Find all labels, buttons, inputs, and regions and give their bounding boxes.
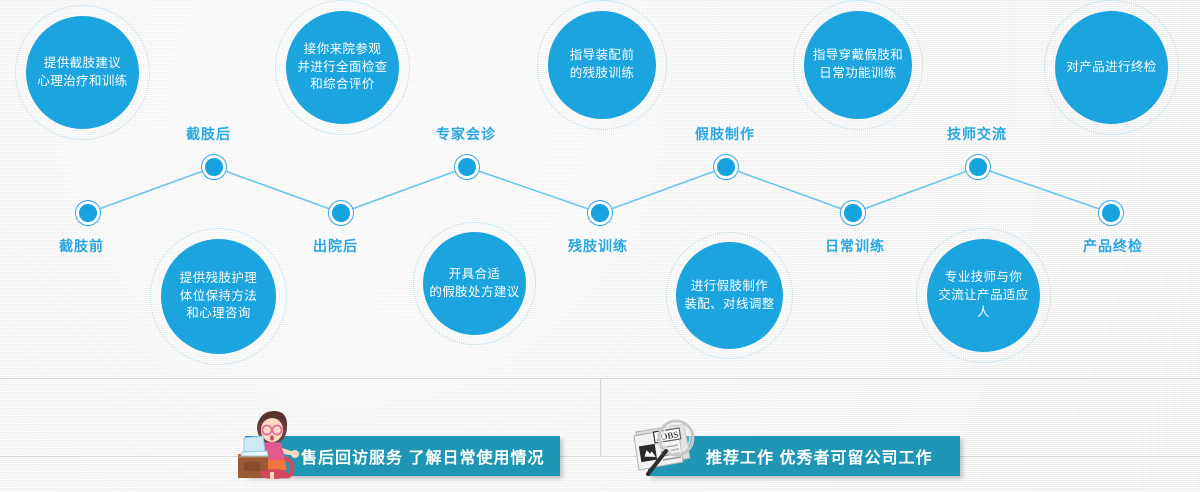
- node-label-daily-training: 日常训练: [825, 236, 885, 256]
- banner-after-sales[interactable]: 售后回访服务 了解日常使用情况: [245, 436, 560, 476]
- node-label-expert-consultation: 专家会诊: [436, 124, 496, 144]
- banner-job-recommendation-text: 推荐工作 优秀者可留公司工作: [706, 444, 932, 468]
- banner-job-recommendation[interactable]: 推荐工作 优秀者可留公司工作: [648, 436, 960, 476]
- section-divider-vertical: [600, 378, 601, 456]
- node-label-stump-training: 残肢训练: [568, 236, 628, 256]
- node-label-post-amputation: 截肢后: [186, 124, 231, 144]
- banner-after-sales-text: 售后回访服务 了解日常使用情况: [301, 444, 544, 468]
- node-label-pre-amputation: 截肢前: [59, 236, 104, 256]
- node-label-technician-exchange: 技师交流: [947, 124, 1007, 144]
- node-label-post-discharge: 出院后: [313, 236, 358, 256]
- node-label-final-inspection: 产品终检: [1083, 236, 1143, 256]
- node-label-prosthesis-fabrication: 假肢制作: [695, 124, 755, 144]
- infographic-canvas: 提供截肢建议心理治疗和训练 接你来院参观并进行全面检查和综合评价 指导装配前的残…: [0, 0, 1200, 492]
